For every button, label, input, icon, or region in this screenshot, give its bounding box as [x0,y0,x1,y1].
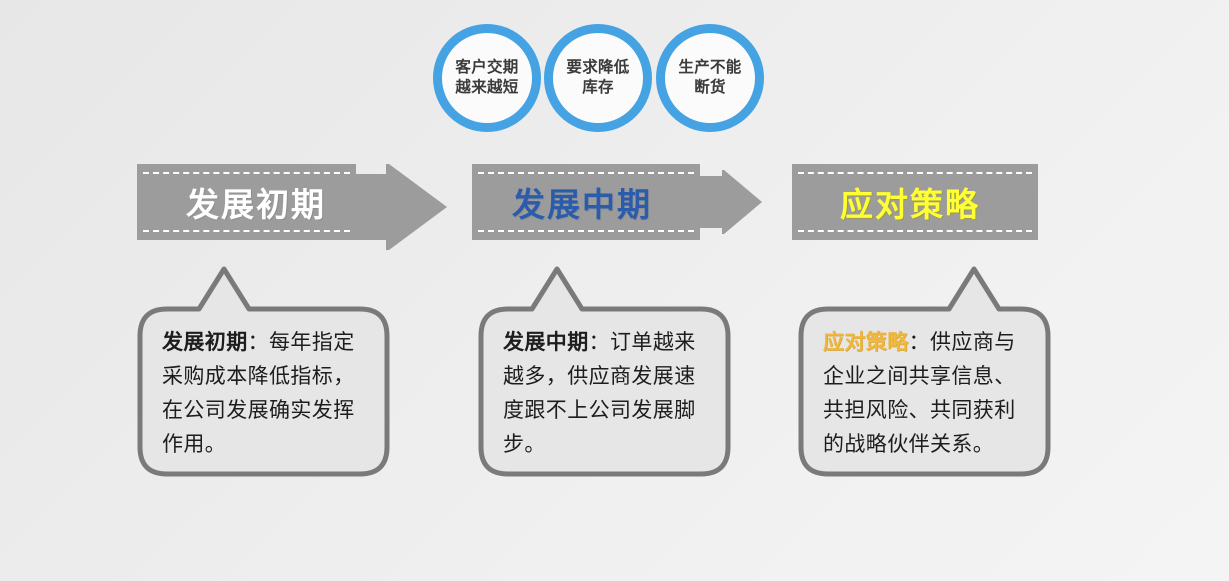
callout-strategy: 应对策略：供应商与企业之间共享信息、共担风险、共同获利的战略伙伴关系。 [797,263,1052,478]
callout-keyword: 应对策略 [823,330,909,354]
banner-label-mid-stage: 发展中期 [512,164,652,240]
callout-early-stage: 发展初期：每年指定采购成本降低指标，在公司发展确实发挥作用。 [136,263,391,478]
callout-keyword: 发展初期 [162,330,248,354]
slide-canvas: 客户交期越来越短 要求降低库存 生产不能断货 发展初期 发展中期 [0,0,1229,581]
circle-label: 要求降低库存 [565,58,631,98]
circle-label: 客户交期越来越短 [454,58,520,98]
callout-text-early-stage: 发展初期：每年指定采购成本降低指标，在公司发展确实发挥作用。 [162,325,368,461]
banner-mid-stage: 发展中期 [472,164,762,240]
banner-strategy: 应对策略 [792,164,1038,240]
circle-badge-no-stockout: 生产不能断货 [656,24,764,132]
circle-badge-lower-inventory: 要求降低库存 [544,24,652,132]
callout-text-mid-stage: 发展中期：订单越来越多，供应商发展速度跟不上公司发展脚步。 [503,325,709,461]
callout-text-strategy: 应对策略：供应商与企业之间共享信息、共担风险、共同获利的战略伙伴关系。 [823,325,1029,461]
callout-separator: ： [909,330,930,354]
callout-keyword: 发展中期 [503,330,589,354]
callout-separator: ： [589,330,610,354]
banner-early-stage: 发展初期 [137,164,447,240]
banner-label-early-stage: 发展初期 [186,164,326,240]
banner-label-strategy: 应对策略 [840,164,980,240]
callout-mid-stage: 发展中期：订单越来越多，供应商发展速度跟不上公司发展脚步。 [477,263,732,478]
circle-badge-customer-lead-time: 客户交期越来越短 [433,24,541,132]
circle-label: 生产不能断货 [677,58,743,98]
callout-separator: ： [248,330,269,354]
